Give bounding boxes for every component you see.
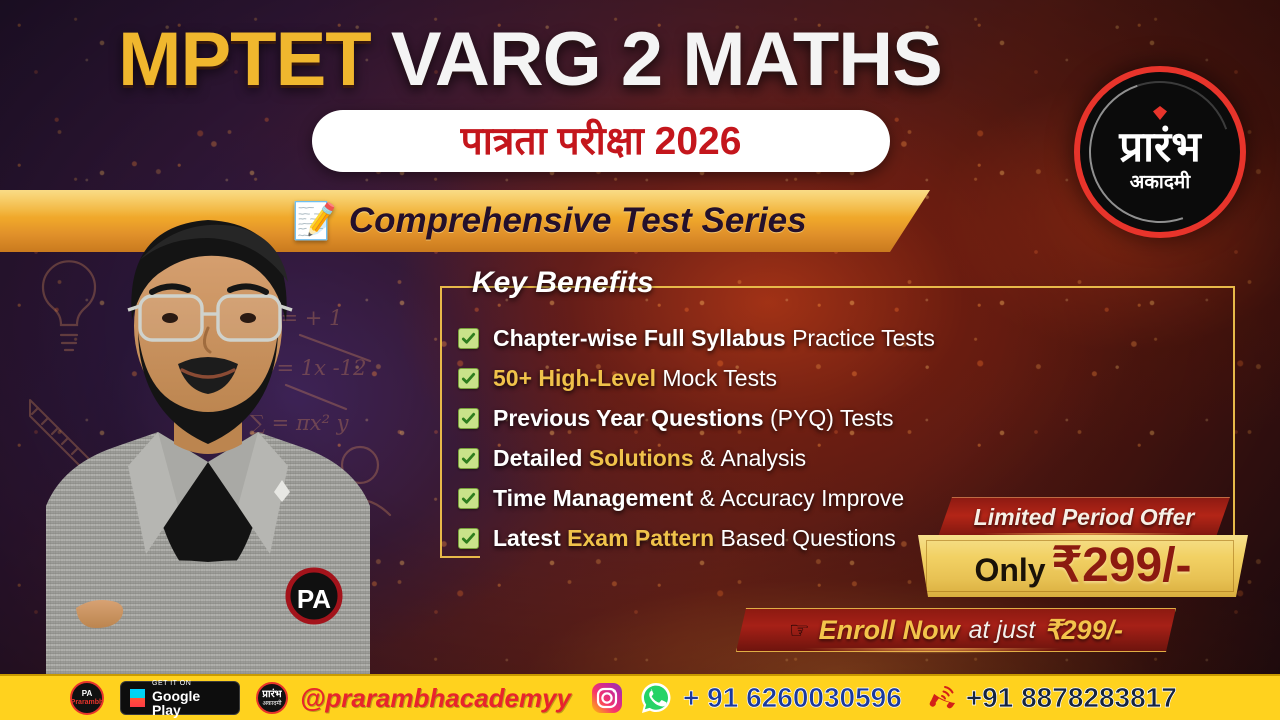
cta-content: ☞ Enroll Now at just ₹299/- — [789, 617, 1123, 644]
benefit-rest: Based Questions — [714, 525, 896, 551]
benefit-text: Latest Exam Pattern Based Questions — [493, 527, 896, 550]
cta-glow-decoration — [730, 648, 1180, 662]
call-number[interactable]: +91 8878283817 — [966, 684, 1177, 712]
title-white-part: VARG 2 MATHS — [391, 17, 942, 102]
title-gold-part: MPTET — [118, 17, 371, 102]
benefit-bold: Previous Year Questions — [493, 405, 764, 431]
google-play-text: GET IT ON Google Play — [152, 680, 230, 717]
list-item: Previous Year Questions (PYQ) Tests — [458, 398, 1238, 438]
limited-offer-ribbon: Limited Period Offer — [938, 497, 1230, 537]
ribbon-label: Comprehensive Test Series — [349, 201, 807, 241]
social-handle[interactable]: @prarambhacademyy — [300, 685, 571, 711]
contact-footer: PA Prarambh GET IT ON Google Play प्रारं… — [0, 674, 1280, 720]
promo-banner: x = + 1 x = 1x -12 ∑ = πx² y MPTET VARG … — [0, 0, 1280, 720]
enroll-now-button[interactable]: ☞ Enroll Now at just ₹299/- — [736, 608, 1176, 652]
check-icon — [458, 488, 479, 509]
list-item: Chapter-wise Full Syllabus Practice Test… — [458, 318, 1238, 358]
benefit-text: Detailed Solutions & Analysis — [493, 447, 806, 470]
google-play-small-label: GET IT ON — [152, 680, 230, 687]
benefit-rest: Mock Tests — [656, 365, 777, 391]
instagram-icon[interactable] — [591, 682, 623, 714]
mini-logo-line1: प्रारंभ — [262, 690, 281, 700]
benefit-gold: 50+ High-Level — [493, 365, 656, 391]
mini-logo-line2: अकादमी — [262, 701, 281, 707]
benefit-text: Previous Year Questions (PYQ) Tests — [493, 407, 894, 430]
price-value: ₹299/- — [1052, 542, 1192, 590]
google-play-button[interactable]: GET IT ON Google Play — [120, 681, 240, 715]
price-prefix: Only — [974, 554, 1045, 586]
benefit-rest: & Accuracy Improve — [693, 485, 904, 511]
phone-call-icon — [924, 681, 958, 715]
benefit-gold: Solutions — [589, 445, 694, 471]
price-row: Only ₹299/- — [974, 542, 1191, 590]
check-icon — [458, 328, 479, 349]
benefit-text: 50+ High-Level Mock Tests — [493, 367, 777, 390]
check-icon — [458, 528, 479, 549]
instructor-photo: PA — [28, 114, 388, 674]
page-title: MPTET VARG 2 MATHS — [0, 22, 1060, 98]
list-item: 50+ High-Level Mock Tests — [458, 358, 1238, 398]
exam-name-text: पात्रता परीक्षा 2026 — [461, 122, 742, 161]
price-panel: Only ₹299/- — [918, 535, 1248, 597]
benefit-bold: Latest — [493, 525, 567, 551]
benefit-text: Chapter-wise Full Syllabus Practice Test… — [493, 327, 935, 350]
footer-mini-logo: प्रारंभ अकादमी — [256, 682, 288, 714]
cta-price-label: ₹299/- — [1044, 617, 1123, 644]
brand-logo: प्रारंभ अकादमी — [1074, 66, 1246, 238]
whatsapp-number[interactable]: + 91 6260030596 — [683, 684, 902, 712]
google-play-icon — [130, 689, 145, 707]
key-benefits-title: Key Benefits — [462, 268, 664, 298]
check-icon — [458, 368, 479, 389]
exam-name-pill: पात्रता परीक्षा 2026 — [312, 110, 890, 172]
benefit-rest: & Analysis — [694, 445, 807, 471]
benefit-bold: Time Management — [493, 485, 693, 511]
benefit-rest: Practice Tests — [786, 325, 935, 351]
benefit-bold: Detailed — [493, 445, 589, 471]
benefit-text: Time Management & Accuracy Improve — [493, 487, 904, 510]
pa-seal-badge: PA Prarambh — [70, 681, 104, 715]
pointing-hand-icon: ☞ — [789, 619, 810, 642]
pa-badge-line2: Prarambh — [71, 699, 104, 706]
google-play-large-label: Google Play — [152, 689, 230, 717]
cta-action-label: Enroll Now — [819, 617, 960, 644]
benefit-gold: Exam Pattern — [567, 525, 714, 551]
pa-badge-line1: PA — [82, 690, 93, 698]
limited-offer-label: Limited Period Offer — [974, 504, 1195, 531]
whatsapp-icon[interactable] — [639, 681, 673, 715]
svg-text:PA: PA — [297, 584, 331, 614]
check-icon — [458, 408, 479, 429]
cta-middle-label: at just — [969, 618, 1036, 643]
check-icon — [458, 448, 479, 469]
benefit-bold: Chapter-wise Full Syllabus — [493, 325, 786, 351]
list-item: Detailed Solutions & Analysis — [458, 438, 1238, 478]
benefit-rest: (PYQ) Tests — [764, 405, 894, 431]
